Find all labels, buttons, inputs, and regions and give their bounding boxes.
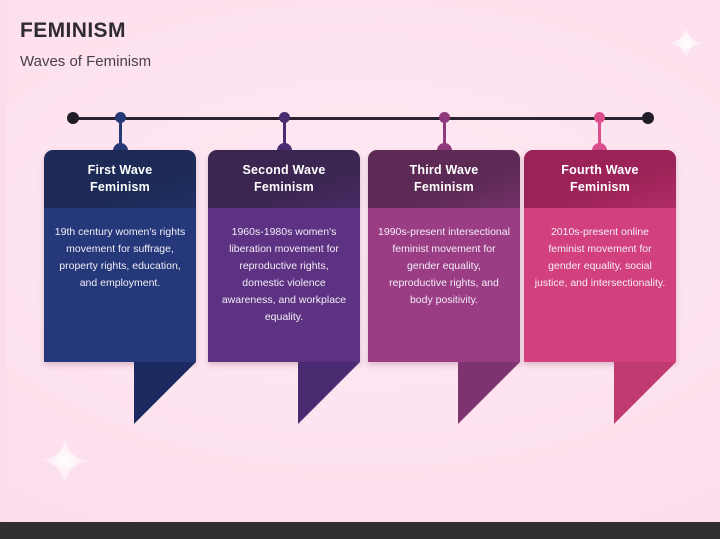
card-title-4-line1: Fourth Wave (561, 163, 638, 177)
card-panel-1: First Wave Feminism 19th century women's… (44, 150, 196, 362)
wave-card-second-wave[interactable]: Second Wave Feminism 1960s-1980s women's… (208, 150, 360, 362)
card-title-3: Third Wave Feminism (410, 162, 479, 196)
card-body-2: 1960s-1980s women's liberation movement … (208, 208, 360, 362)
wave-card-first-wave[interactable]: First Wave Feminism 19th century women's… (44, 150, 196, 362)
viewer-bottom-bar (0, 522, 720, 539)
card-body-text-1: 19th century women's rights movement for… (54, 224, 186, 292)
card-title-3-line1: Third Wave (410, 163, 479, 177)
slide-canvas: FEMINISM Waves of Feminism (0, 0, 720, 522)
card-title-1-line2: Feminism (90, 180, 150, 194)
wave-cards-group: First Wave Feminism 19th century women's… (0, 0, 720, 522)
card-title-3-line2: Feminism (414, 180, 474, 194)
card-title-2-line2: Feminism (254, 180, 314, 194)
card-title-4: Fourth Wave Feminism (561, 162, 638, 196)
card-body-4: 2010s-present online feminist movement f… (524, 208, 676, 362)
wave-card-third-wave[interactable]: Third Wave Feminism 1990s-present inters… (368, 150, 520, 362)
card-body-1: 19th century women's rights movement for… (44, 208, 196, 362)
wave-card-fourth-wave[interactable]: Fourth Wave Feminism 2010s-present onlin… (524, 150, 676, 362)
card-title-4-line2: Feminism (570, 180, 630, 194)
card-body-text-4: 2010s-present online feminist movement f… (534, 224, 666, 292)
card-title-1-line1: First Wave (88, 163, 153, 177)
slide-viewer: FEMINISM Waves of Feminism (0, 0, 720, 539)
card-title-2-line1: Second Wave (242, 163, 325, 177)
card-panel-4: Fourth Wave Feminism 2010s-present onlin… (524, 150, 676, 362)
card-title-2: Second Wave Feminism (242, 162, 325, 196)
card-tail-1 (134, 362, 196, 424)
card-title-1: First Wave Feminism (88, 162, 153, 196)
card-tail-2 (298, 362, 360, 424)
card-header-2: Second Wave Feminism (208, 150, 360, 208)
card-tail-4 (614, 362, 676, 424)
card-panel-2: Second Wave Feminism 1960s-1980s women's… (208, 150, 360, 362)
card-header-4: Fourth Wave Feminism (524, 150, 676, 208)
card-body-3: 1990s-present intersectional feminist mo… (368, 208, 520, 362)
card-body-text-2: 1960s-1980s women's liberation movement … (218, 224, 350, 326)
card-header-1: First Wave Feminism (44, 150, 196, 208)
card-body-text-3: 1990s-present intersectional feminist mo… (378, 224, 510, 309)
card-tail-3 (458, 362, 520, 424)
card-panel-3: Third Wave Feminism 1990s-present inters… (368, 150, 520, 362)
card-header-3: Third Wave Feminism (368, 150, 520, 208)
